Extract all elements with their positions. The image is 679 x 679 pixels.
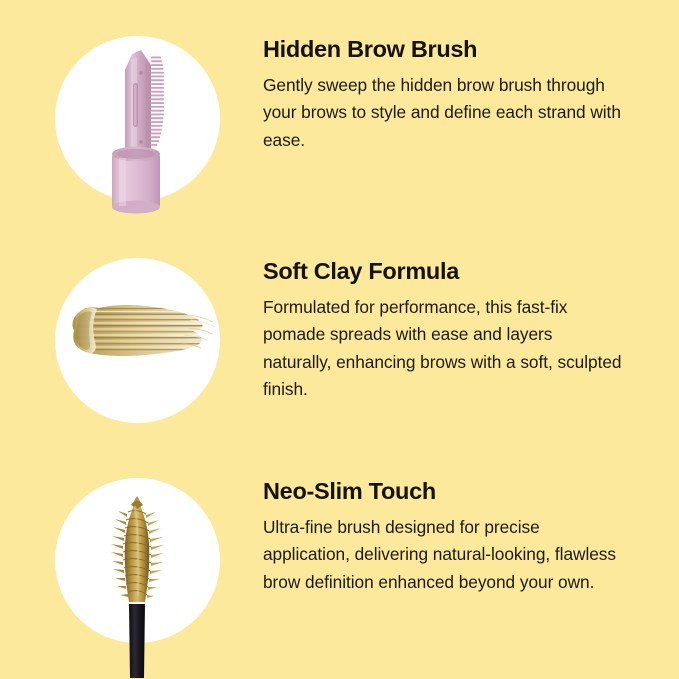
feature-media [0,258,220,458]
feature-list-page: Hidden Brow Brush Gently sweep the hidde… [0,0,679,679]
feature-title: Hidden Brow Brush [263,36,651,63]
feature-description: Ultra-fine brush designed for precise ap… [263,514,623,596]
soft-clay-swatch-illustration [55,258,220,458]
brush-cap [112,147,160,214]
feature-text: Neo-Slim Touch Ultra-fine brush designed… [220,478,679,596]
neo-slim-spoolie-illustration [55,478,220,678]
feature-description: Formulated for performance, this fast-fi… [263,294,623,403]
feature-text: Soft Clay Formula Formulated for perform… [220,258,679,403]
comb-blade [125,50,151,156]
feature-text: Hidden Brow Brush Gently sweep the hidde… [220,36,679,154]
comb-teeth [151,57,164,146]
feature-title: Soft Clay Formula [263,258,651,285]
feature-media [0,478,220,678]
feature-description: Gently sweep the hidden brow brush throu… [263,72,623,154]
feature-row: Soft Clay Formula Formulated for perform… [0,258,679,458]
feature-title: Neo-Slim Touch [263,478,651,505]
feature-row: Hidden Brow Brush Gently sweep the hidde… [0,36,679,236]
hidden-brow-brush-illustration [55,36,220,236]
spoolie-handle [129,604,145,678]
feature-media [0,36,220,236]
spoolie-tip [131,496,143,509]
feature-row: Neo-Slim Touch Ultra-fine brush designed… [0,478,679,678]
